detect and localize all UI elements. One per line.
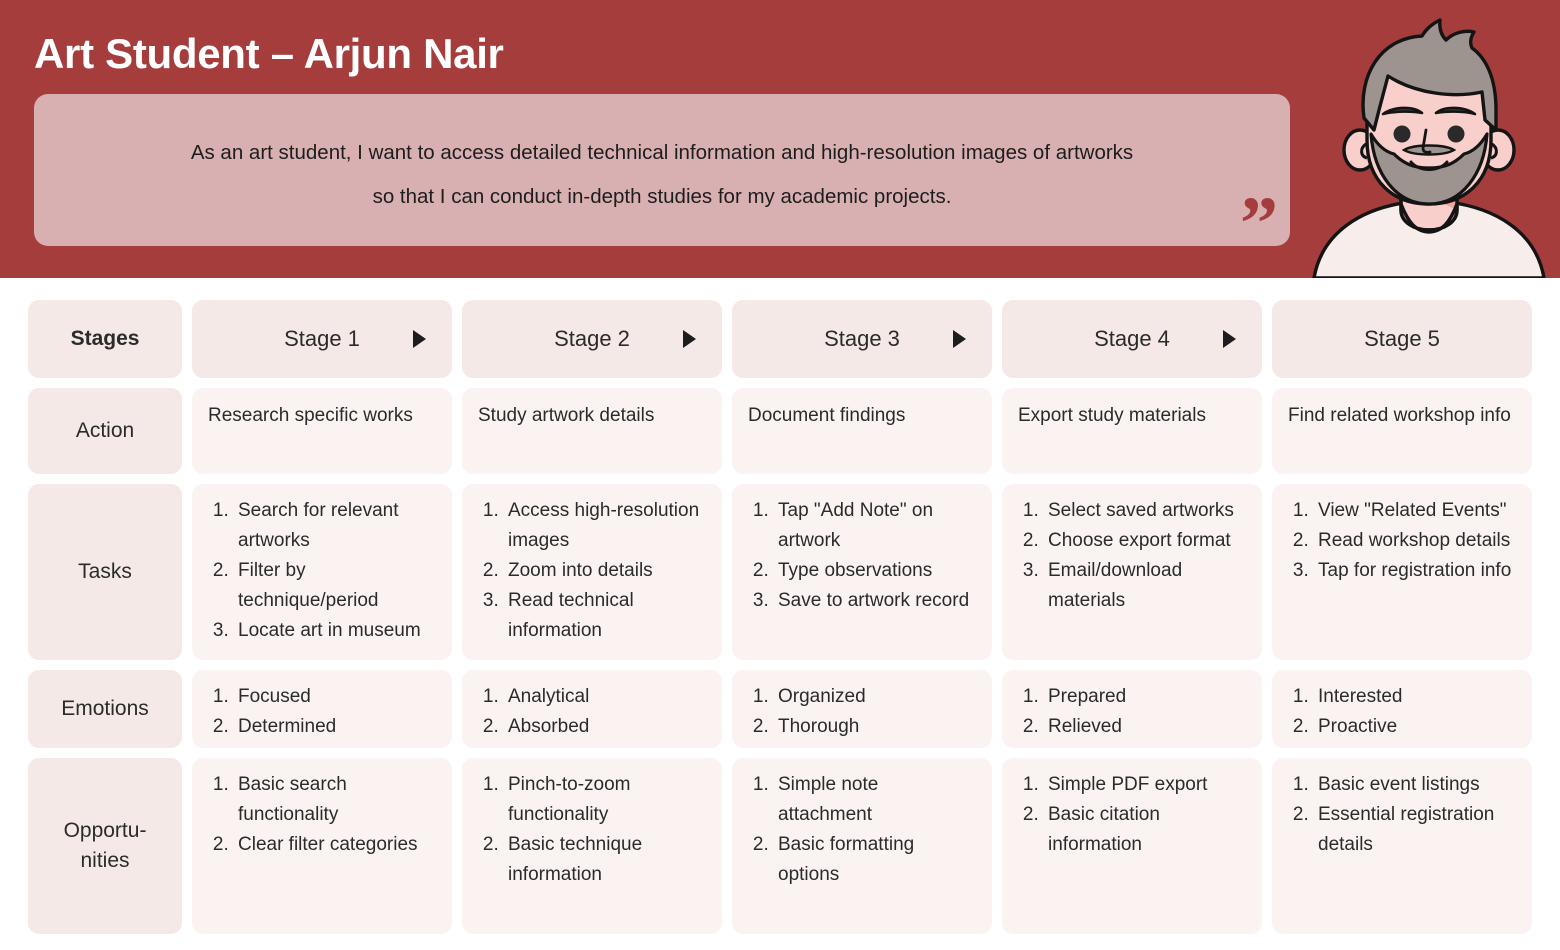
list-item: Filter by technique/period [234,556,436,616]
cell-action-stage-2[interactable]: Study artwork details [462,388,722,474]
opportunity-list: Basic search functionalityClear filter c… [208,770,436,860]
list-item: Email/download materials [1044,556,1246,616]
list-item: Choose export format [1044,526,1246,556]
play-triangle-icon[interactable] [1223,330,1236,348]
task-list: Tap "Add Note" on artworkType observatio… [748,496,976,616]
list-item: Save to artwork record [774,586,976,616]
closing-quote-icon: ” [1240,186,1278,262]
cell-tasks-stage-3[interactable]: Tap "Add Note" on artworkType observatio… [732,484,992,660]
opportunity-list: Simple note attachmentBasic formatting o… [748,770,976,890]
play-triangle-icon[interactable] [413,330,426,348]
list-item: Basic formatting options [774,830,976,890]
emotion-list: PreparedRelieved [1018,682,1246,742]
list-item: Select saved artworks [1044,496,1246,526]
persona-header: Art Student – Arjun Nair As an art stude… [0,0,1560,278]
stage-header-5[interactable]: Stage 5 [1272,300,1532,378]
cell-emotions-stage-3[interactable]: OrganizedThorough [732,670,992,748]
opportunity-list: Simple PDF exportBasic citation informat… [1018,770,1246,860]
list-item: Simple PDF export [1044,770,1246,800]
list-item: Basic event listings [1314,770,1516,800]
stage-header-3[interactable]: Stage 3 [732,300,992,378]
cell-action-stage-4[interactable]: Export study materials [1002,388,1262,474]
task-list: View "Related Events"Read workshop detai… [1288,496,1516,586]
quote-line-2: so that I can conduct in-depth studies f… [34,184,1290,210]
row-action: Action Research specific works Study art… [28,388,1532,474]
cell-opportunities-stage-3[interactable]: Simple note attachmentBasic formatting o… [732,758,992,934]
list-item: Access high-resolution images [504,496,706,556]
cell-tasks-stage-1[interactable]: Search for relevant artworksFilter by te… [192,484,452,660]
list-item: Analytical [504,682,706,712]
cell-emotions-stage-1[interactable]: FocusedDetermined [192,670,452,748]
cell-emotions-stage-5[interactable]: InterestedProactive [1272,670,1532,748]
action-text: Research specific works [208,402,436,430]
corner-label-stages: Stages [28,300,182,378]
cell-opportunities-stage-4[interactable]: Simple PDF exportBasic citation informat… [1002,758,1262,934]
cell-action-stage-5[interactable]: Find related workshop info [1272,388,1532,474]
list-item: Simple note attachment [774,770,976,830]
cell-tasks-stage-4[interactable]: Select saved artworksChoose export forma… [1002,484,1262,660]
list-item: Relieved [1044,712,1246,742]
cell-action-stage-3[interactable]: Document findings [732,388,992,474]
list-item: Zoom into details [504,556,706,586]
opportunity-list: Basic event listingsEssential registrati… [1288,770,1516,860]
stage-header-2[interactable]: Stage 2 [462,300,722,378]
row-opportunities: Opportu-nities Basic search functionalit… [28,758,1532,934]
list-item: Interested [1314,682,1516,712]
list-item: View "Related Events" [1314,496,1516,526]
stage-label: Stage 5 [1364,326,1440,352]
opportunity-list: Pinch-to-zoom functionalityBasic techniq… [478,770,706,890]
list-item: Essential registration details [1314,800,1516,860]
list-item: Tap for registration info [1314,556,1516,586]
cell-opportunities-stage-5[interactable]: Basic event listingsEssential registrati… [1272,758,1532,934]
list-item: Clear filter categories [234,830,436,860]
stage-header-row: Stages Stage 1 Stage 2 Stage 3 Stage 4 S… [28,300,1532,378]
task-list: Access high-resolution imagesZoom into d… [478,496,706,646]
list-item: Basic search functionality [234,770,436,830]
list-item: Tap "Add Note" on artwork [774,496,976,556]
stage-header-4[interactable]: Stage 4 [1002,300,1262,378]
emotion-list: InterestedProactive [1288,682,1516,742]
cell-opportunities-stage-2[interactable]: Pinch-to-zoom functionalityBasic techniq… [462,758,722,934]
stage-label: Stage 4 [1094,326,1170,352]
avatar [1304,14,1554,278]
action-text: Find related workshop info [1288,402,1516,430]
list-item: Proactive [1314,712,1516,742]
stage-label: Stage 2 [554,326,630,352]
list-item: Type observations [774,556,976,586]
cell-tasks-stage-2[interactable]: Access high-resolution imagesZoom into d… [462,484,722,660]
list-item: Search for relevant artworks [234,496,436,556]
list-item: Basic technique information [504,830,706,890]
cell-tasks-stage-5[interactable]: View "Related Events"Read workshop detai… [1272,484,1532,660]
list-item: Locate art in museum [234,616,436,646]
list-item: Organized [774,682,976,712]
row-label-opportunities: Opportu-nities [28,758,182,934]
list-item: Absorbed [504,712,706,742]
task-list: Search for relevant artworksFilter by te… [208,496,436,646]
list-item: Thorough [774,712,976,742]
cell-emotions-stage-4[interactable]: PreparedRelieved [1002,670,1262,748]
row-label-action: Action [28,388,182,474]
list-item: Pinch-to-zoom functionality [504,770,706,830]
action-text: Study artwork details [478,402,706,430]
list-item: Basic citation information [1044,800,1246,860]
play-triangle-icon[interactable] [953,330,966,348]
list-item: Prepared [1044,682,1246,712]
list-item: Determined [234,712,436,742]
cell-emotions-stage-2[interactable]: AnalyticalAbsorbed [462,670,722,748]
row-label-emotions: Emotions [28,670,182,748]
list-item: Read workshop details [1314,526,1516,556]
stage-label: Stage 3 [824,326,900,352]
stage-header-1[interactable]: Stage 1 [192,300,452,378]
row-tasks: Tasks Search for relevant artworksFilter… [28,484,1532,660]
emotion-list: FocusedDetermined [208,682,436,742]
journey-map-grid: Stages Stage 1 Stage 2 Stage 3 Stage 4 S… [0,278,1560,934]
emotion-list: AnalyticalAbsorbed [478,682,706,742]
list-item: Focused [234,682,436,712]
play-triangle-icon[interactable] [683,330,696,348]
row-label-tasks: Tasks [28,484,182,660]
list-item: Read technical information [504,586,706,646]
cell-opportunities-stage-1[interactable]: Basic search functionalityClear filter c… [192,758,452,934]
persona-quote-card: As an art student, I want to access deta… [34,94,1290,246]
emotion-list: OrganizedThorough [748,682,976,742]
action-text: Document findings [748,402,976,430]
task-list: Select saved artworksChoose export forma… [1018,496,1246,616]
page-title: Art Student – Arjun Nair [34,30,504,78]
quote-line-1: As an art student, I want to access deta… [34,140,1290,166]
action-text: Export study materials [1018,402,1246,430]
row-emotions: Emotions FocusedDetermined AnalyticalAbs… [28,670,1532,748]
cell-action-stage-1[interactable]: Research specific works [192,388,452,474]
stage-label: Stage 1 [284,326,360,352]
